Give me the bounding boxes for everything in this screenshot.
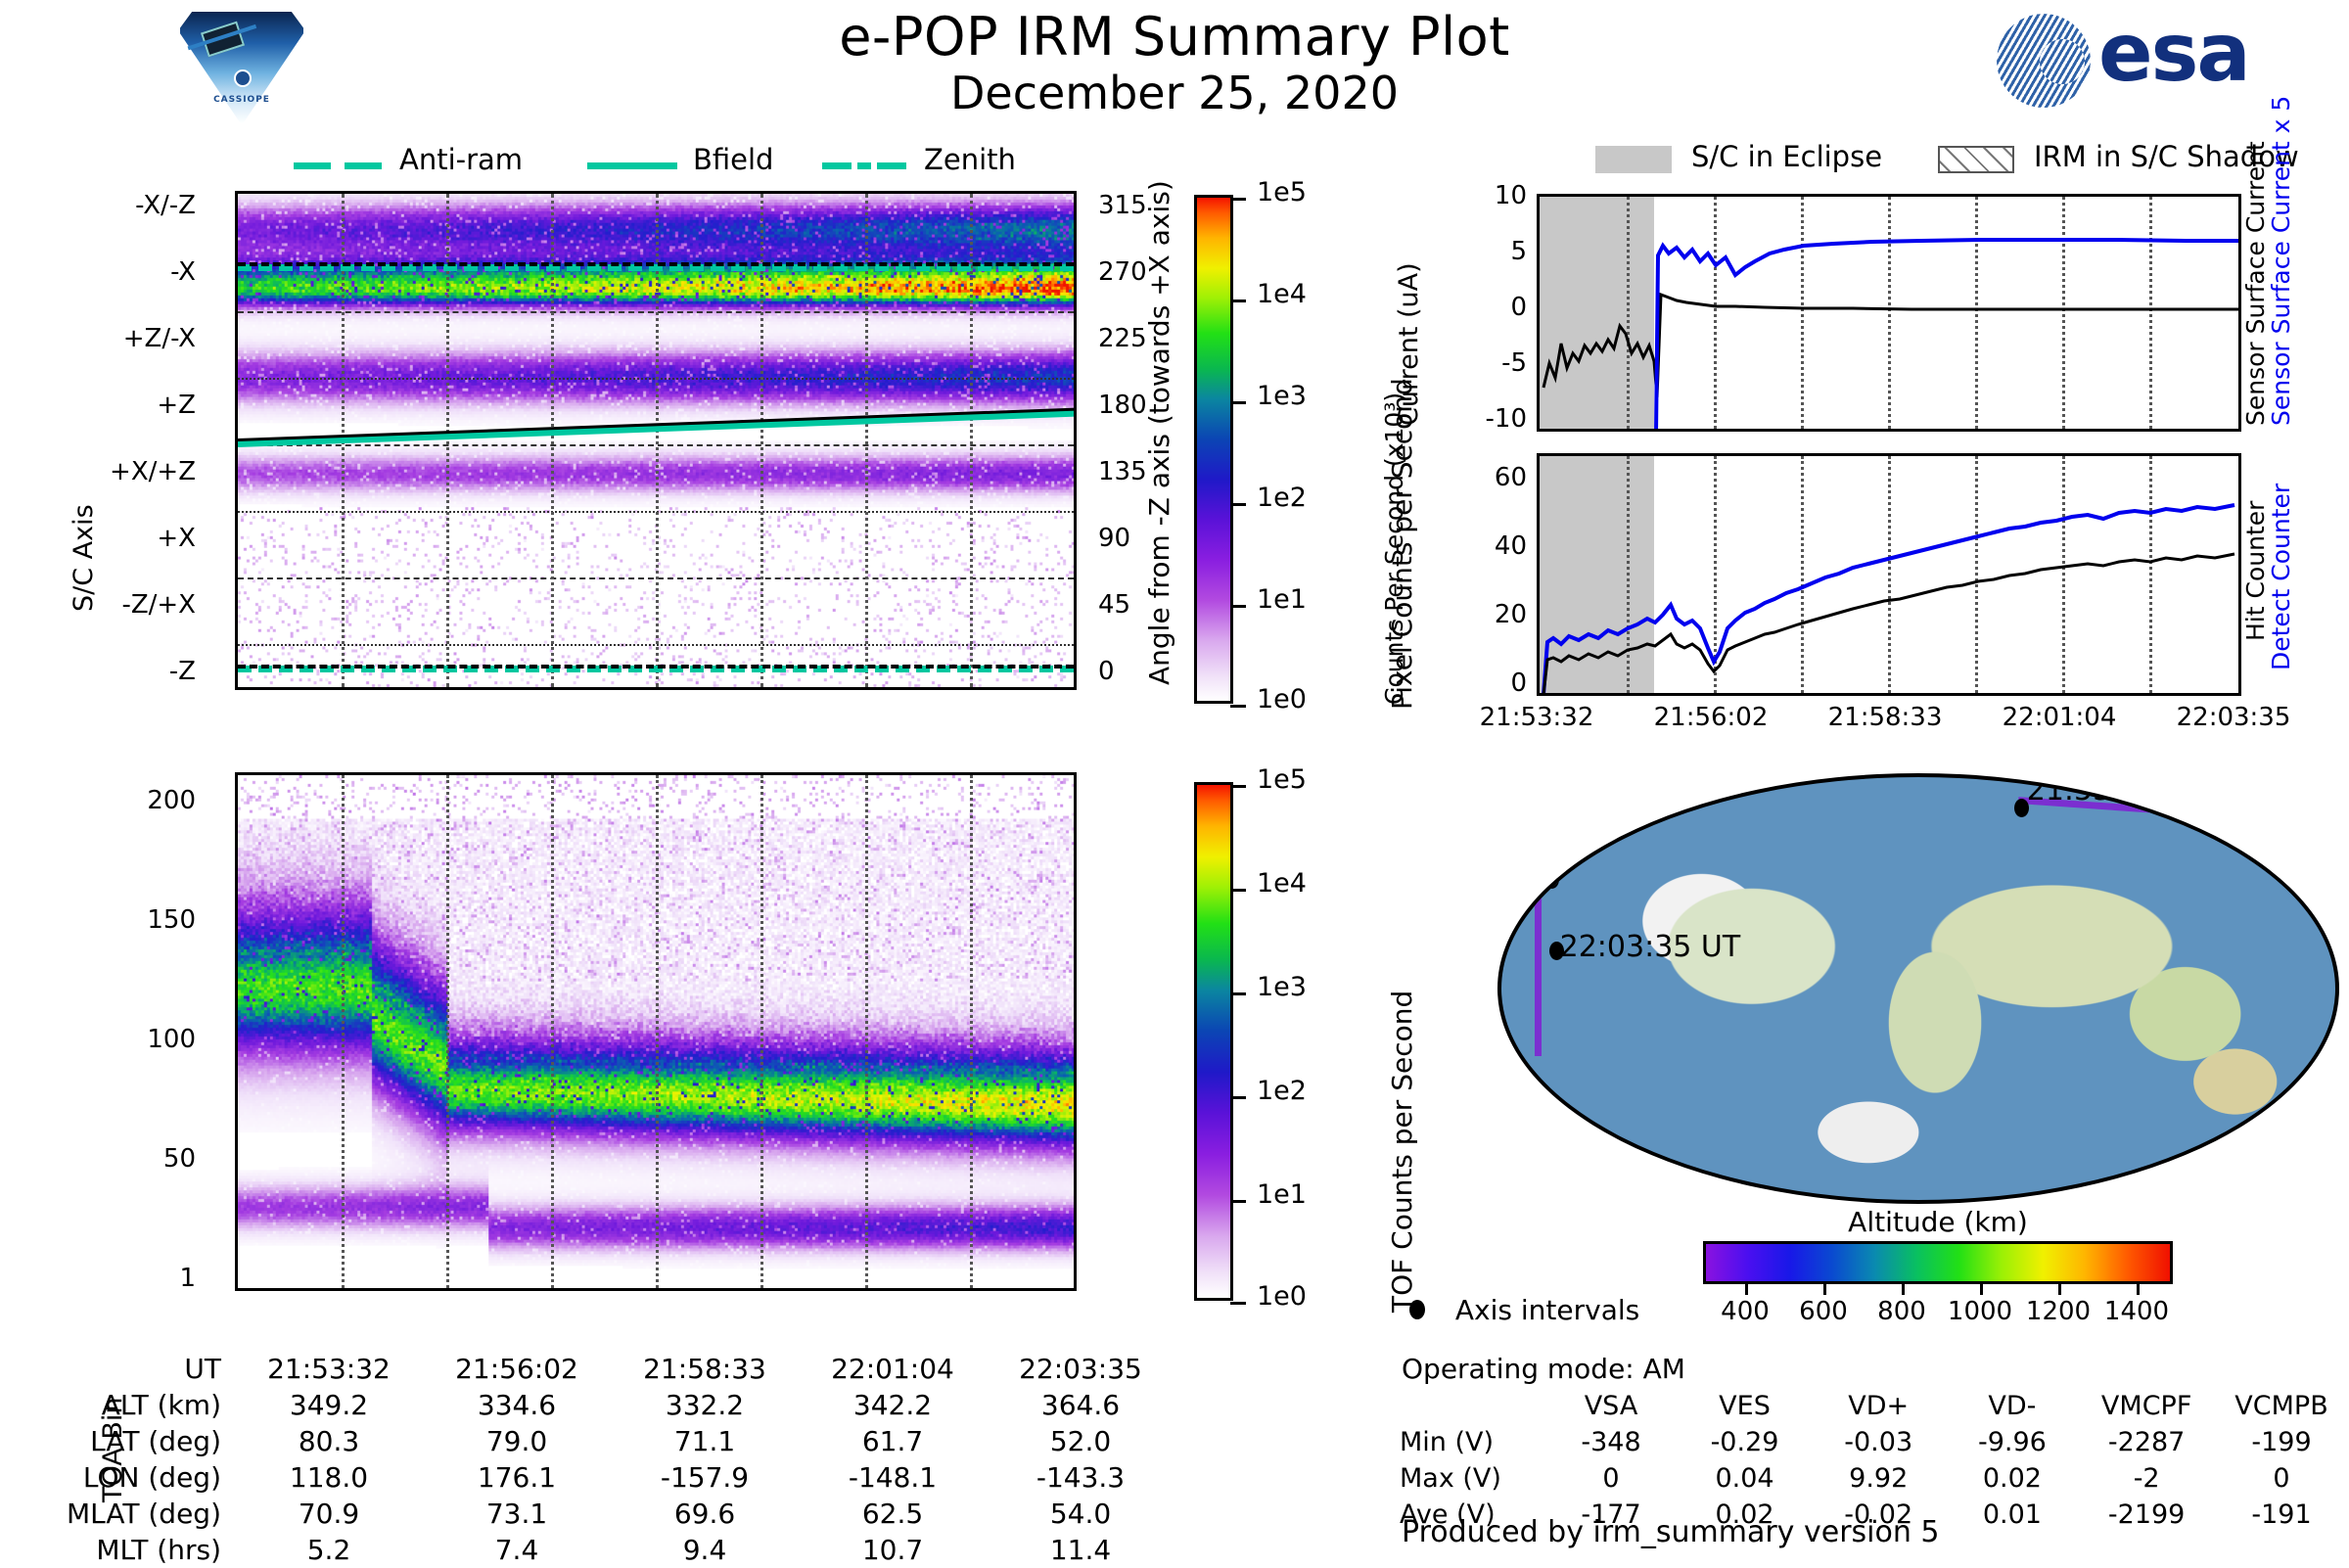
current-ytick-0: 10 [1370,181,1527,210]
angle-ytick-2: +Z/-X [0,324,196,353]
current-right-label-blue: Sensor Surface Current x 5 [2267,96,2295,426]
angle-ytick-7: -Z [0,657,196,686]
axis-intervals-legend: Axis intervals [1409,1292,1639,1326]
current-plot [1537,194,2241,432]
orbit-dot-start [1539,799,1553,817]
axis-intervals-label: Axis intervals [1455,1294,1639,1326]
angle-ytick-6: -Z/+X [0,590,196,620]
table-cell: 61.7 [799,1423,987,1459]
esa-logo-icon: esa [1997,14,2329,108]
table-column-header: VCMPB [2214,1388,2349,1424]
tof-cbar-tick-2: 1e3 [1257,972,1307,1002]
table-cell: -0.03 [1812,1424,1946,1460]
table-cell: -2287 [2079,1424,2214,1460]
current-series-black [1543,295,2240,397]
table-row-label: LON (deg) [39,1459,235,1496]
table-cell: 54.0 [987,1496,1174,1532]
table-column-header: VD- [1946,1388,2080,1424]
table-cell: -2 [2079,1460,2214,1497]
table-cell: 71.1 [611,1423,799,1459]
current-panel: Current (uA) 10 5 0 -5 -10 Sensor Surfac… [1370,181,2349,436]
table-row-label: Min (V) [1400,1424,1544,1460]
tof-cbar-tick-5: 1e0 [1257,1281,1307,1312]
table-row-label: ALT (km) [39,1387,235,1423]
table-cell: 79.0 [423,1423,611,1459]
table-cell: 332.2 [611,1387,799,1423]
tof-cbar-tick-1: 1e4 [1257,868,1307,899]
table-row-label: LAT (deg) [39,1423,235,1459]
table-cell: 21:53:32 [235,1351,423,1387]
counts-right-label-black: Hit Counter [2241,501,2270,641]
table-cell: 70.9 [235,1496,423,1532]
pixel-cbar-tick-0: 1e5 [1257,177,1307,208]
pixel-cbar-tick-1: 1e4 [1257,279,1307,309]
angle-ytick-5: +X [0,524,196,553]
time-tick-1: 21:56:02 [1652,703,1770,732]
toa-ytick-0: 200 [0,786,196,815]
table-column-header: VES [1678,1388,1812,1424]
counts-series-black [1543,554,2234,695]
table-row-label: MLT (hrs) [39,1532,235,1568]
voltage-summary-table: VSAVESVD+VD-VMCPFVCMPBMin (V)-348-0.29-0… [1400,1388,2349,1533]
table-row-label: Max (V) [1400,1460,1544,1497]
operating-mode-label: Operating mode: AM [1402,1353,1685,1385]
counts-plot [1537,453,2241,696]
pixel-cbar-tick-5: 1e0 [1257,684,1307,715]
toa-ytick-1: 150 [0,905,196,935]
table-header-row: VSAVESVD+VD-VMCPFVCMPB [1400,1388,2349,1424]
table-cell: 0 [2214,1460,2349,1497]
tof-counts-colorbar: 1e5 1e4 1e3 1e2 1e1 1e0 TOF Counts per S… [1174,768,1409,1336]
legend-label-anti-ram: Anti-ram [399,143,523,176]
angle-right-axis-label: Angle from -Z axis (towards +X axis) [1143,180,1175,685]
table-cell: -157.9 [611,1459,799,1496]
alt-tick-4: 1200 [2026,1297,2091,1326]
counts-panel: Counts Per Second (x10³) 60 40 20 0 Dete… [1370,445,2349,710]
ground-track-map: 21:53:32 UT 22:03:35 UT [1497,773,2339,1204]
table-cell: -0.29 [1678,1424,1812,1460]
angle-ytick-0: -X/-Z [0,191,196,220]
table-cell: 349.2 [235,1387,423,1423]
current-ytick-1: 5 [1370,237,1527,266]
table-cell: 9.92 [1812,1460,1946,1497]
current-series-blue [1654,240,2240,432]
counts-ytick-2: 20 [1370,600,1527,629]
pixel-cbar-tick-2: 1e3 [1257,381,1307,411]
legend-label-bfield: Bfield [693,143,773,176]
table-row: MLAT (deg)70.973.169.662.554.0 [39,1496,1174,1532]
table-cell: -199 [2214,1424,2349,1460]
current-ytick-3: -5 [1370,348,1527,378]
table-cell: -148.1 [799,1459,987,1496]
table-cell: 176.1 [423,1459,611,1496]
table-row-label: UT [39,1351,235,1387]
toa-ytick-4: 1 [0,1264,196,1293]
esa-wordmark: esa [2098,16,2249,92]
current-right-label-black: Sensor Surface Current [2241,141,2270,426]
counts-right-label-blue: Detect Counter [2267,484,2295,670]
table-cell: 7.4 [423,1532,611,1568]
table-cell: 5.2 [235,1532,423,1568]
pixel-cbar-tick-3: 1e2 [1257,483,1307,513]
overlay-zenith-core [238,665,1074,669]
table-row: LAT (deg)80.379.071.161.752.0 [39,1423,1174,1459]
time-tick-3: 22:01:04 [2001,703,2118,732]
timeseries-legend: S/C in Eclipse IRM in S/C Shadow [1527,142,2349,181]
time-tick-4: 22:03:35 [2175,703,2292,732]
ephemeris-table: UT21:53:3221:56:0221:58:3322:01:0422:03:… [39,1351,1174,1568]
alt-tick-0: 400 [1721,1297,1770,1326]
table-cell: 11.4 [987,1532,1174,1568]
altitude-colorbar-title: Altitude (km) [1703,1206,2173,1238]
table-cell: 73.1 [423,1496,611,1532]
table-cell: 22:01:04 [799,1351,987,1387]
table-cell: 364.6 [987,1387,1174,1423]
table-row: MLT (hrs)5.27.49.410.711.4 [39,1532,1174,1568]
table-cell: -191 [2214,1497,2349,1533]
toa-ytick-3: 50 [0,1144,196,1174]
table-column-header: VSA [1544,1388,1678,1424]
table-cell: 9.4 [611,1532,799,1568]
table-row: UT21:53:3221:56:0221:58:3322:01:0422:03:… [39,1351,1174,1387]
axis-interval-dot-icon [1409,1300,1425,1319]
table-cell: -348 [1544,1424,1678,1460]
overlay-anti-ram-core [238,262,1074,266]
counts-ytick-3: 0 [1370,669,1527,698]
table-cell: 334.6 [423,1387,611,1423]
toa-spectrogram-plot [235,772,1077,1291]
cassiope-mission-patch-icon: CASSIOPE [178,10,305,125]
table-cell: -9.96 [1946,1424,2080,1460]
toa-ytick-2: 100 [0,1025,196,1054]
table-cell: 22:03:35 [987,1351,1174,1387]
timeseries-xaxis: 21:53:32 21:56:02 21:58:33 22:01:04 22:0… [1370,703,2349,742]
table-cell: 118.0 [235,1459,423,1496]
footer-produced-by: Produced by irm_summary version 5 [1402,1515,1939,1549]
table-cell: 62.5 [799,1496,987,1532]
table-cell: 10.7 [799,1532,987,1568]
table-cell: 21:56:02 [423,1351,611,1387]
table-cell: 0 [1544,1460,1678,1497]
angle-ytick-1: -X [0,257,196,287]
table-cell: 0.04 [1678,1460,1812,1497]
tof-cbar-tick-0: 1e5 [1257,764,1307,795]
pixel-cbar-tick-4: 1e1 [1257,584,1307,615]
angle-ytick-4: +X/+Z [0,457,196,486]
table-cell: -143.3 [987,1459,1174,1496]
legend-label-zenith: Zenith [924,143,1016,176]
angle-ytick-3: +Z [0,391,196,420]
alt-tick-1: 600 [1799,1297,1848,1326]
counts-ytick-1: 40 [1370,531,1527,561]
table-row-label: MLAT (deg) [39,1496,235,1532]
world-map: 21:53:32 UT 22:03:35 UT [1497,773,2339,1204]
alt-tick-2: 800 [1877,1297,1926,1326]
tof-cbar-tick-4: 1e1 [1257,1179,1307,1210]
table-cell: 342.2 [799,1387,987,1423]
table-column-header: VMCPF [2079,1388,2214,1424]
tof-cbar-tick-3: 1e2 [1257,1076,1307,1106]
table-row: Min (V)-348-0.29-0.03-9.96-2287-199 [1400,1424,2349,1460]
current-ytick-2: 0 [1370,293,1527,322]
time-tick-2: 21:58:33 [1826,703,1944,732]
table-cell: 0.01 [1946,1497,2080,1533]
legend-label-eclipse: S/C in Eclipse [1691,140,1882,173]
table-cell: -2199 [2079,1497,2214,1533]
altitude-colorbar: 400 600 800 1000 1200 1400 [1703,1241,2173,1284]
mission-patch-label: CASSIOPE [178,95,305,105]
counts-ytick-0: 60 [1370,463,1527,492]
map-start-time-label: 21:53:32 UT [2027,773,2208,807]
table-cell: 69.6 [611,1496,799,1532]
table-row: LON (deg)118.0176.1-157.9-148.1-143.3 [39,1459,1174,1496]
table-row: ALT (km)349.2334.6332.2342.2364.6 [39,1387,1174,1423]
table-row: Max (V)00.049.920.02-20 [1400,1460,2349,1497]
toa-spectrogram-panel: TOA Bin 200 150 100 50 1 [0,759,1174,1346]
time-tick-0: 21:53:32 [1478,703,1595,732]
spectrogram-legend: Anti-ram Bfield Zenith [294,147,998,182]
table-cell: 21:58:33 [611,1351,799,1387]
table-column-header: VD+ [1812,1388,1946,1424]
angle-spectrogram-panel: S/C Axis -X/-Z -X +Z/-X +Z +X/+Z +X -Z/+… [0,181,1174,739]
map-end-time-label: 22:03:35 UT [1560,930,1741,964]
alt-tick-5: 1400 [2104,1297,2169,1326]
table-cell: 80.3 [235,1423,423,1459]
alt-tick-3: 1000 [1948,1297,2012,1326]
table-cell: 0.02 [1946,1460,2080,1497]
table-cell: 52.0 [987,1423,1174,1459]
tof-cbar-title: TOF Counts per Second [1386,991,1418,1313]
angle-spectrogram-plot [235,191,1077,690]
